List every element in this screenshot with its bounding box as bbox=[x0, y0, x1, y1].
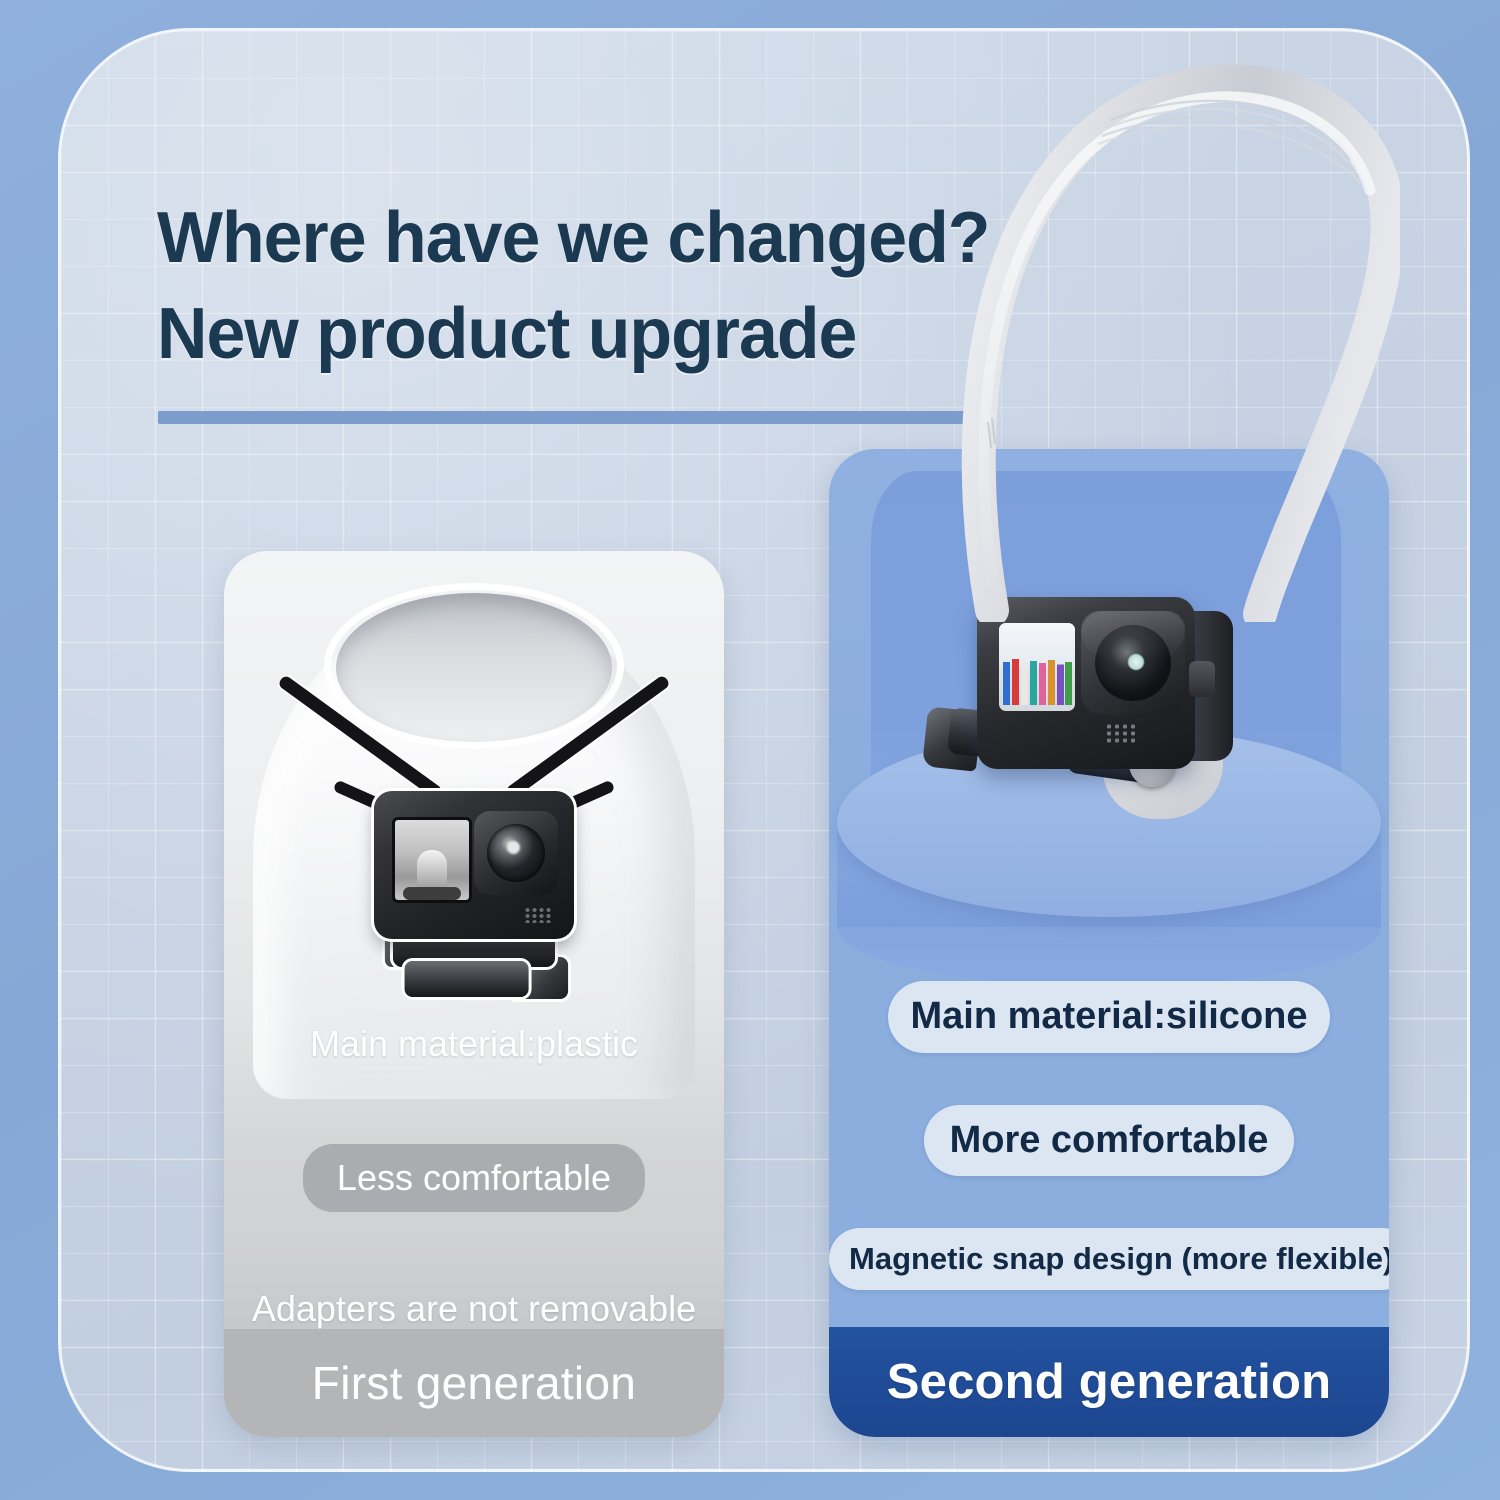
feature-material-pill: Main material:silicone bbox=[888, 981, 1329, 1053]
action-camera-front-view bbox=[374, 791, 574, 939]
torso-collar bbox=[324, 583, 624, 749]
first-generation-footer: First generation bbox=[224, 1329, 724, 1437]
feature-adapters: Adapters are not removable bbox=[224, 1286, 724, 1331]
feature-material: Main material:plastic bbox=[224, 1021, 724, 1066]
second-generation-feature-list: Main material:silicone More comfortable … bbox=[829, 981, 1389, 1290]
first-generation-feature-list: Main material:plastic Less comfortable A… bbox=[224, 1021, 724, 1331]
camera-mic-grille bbox=[524, 907, 552, 923]
headline-line-2: New product upgrade bbox=[157, 287, 1011, 383]
infographic-canvas: Main material:plastic Less comfortable A… bbox=[0, 0, 1500, 1500]
feature-comfort-pill: More comfortable bbox=[924, 1105, 1295, 1177]
first-generation-label: First generation bbox=[312, 1356, 636, 1410]
feature-magnetic-snap-pill: Magnetic snap design (more flexible) bbox=[829, 1228, 1389, 1290]
headline-line-1: Where have we changed? bbox=[157, 191, 1011, 287]
camera-side-button bbox=[1189, 661, 1215, 697]
second-generation-card: Main material:silicone More comfortable … bbox=[829, 449, 1389, 1437]
headline-block: Where have we changed? New product upgra… bbox=[157, 191, 1037, 383]
second-generation-label: Second generation bbox=[887, 1354, 1331, 1410]
camera-front-screen bbox=[392, 817, 472, 903]
screen-figure-base bbox=[403, 887, 461, 900]
content-panel: Main material:plastic Less comfortable A… bbox=[58, 28, 1470, 1472]
action-camera-angled-view bbox=[977, 589, 1239, 779]
screen-people bbox=[1001, 657, 1073, 705]
feature-comfort-pill: Less comfortable bbox=[303, 1144, 645, 1212]
second-generation-footer: Second generation bbox=[829, 1327, 1389, 1437]
camera-lens-housing bbox=[474, 811, 558, 895]
mount-adapter-lower bbox=[405, 961, 529, 997]
first-generation-card: Main material:plastic Less comfortable A… bbox=[224, 551, 724, 1437]
camera-lens bbox=[487, 824, 545, 882]
headline-underline bbox=[158, 411, 966, 424]
mannequin-torso-image bbox=[239, 569, 709, 1089]
lens-glint bbox=[507, 841, 520, 854]
lens-sheen bbox=[1081, 611, 1185, 661]
camera-mic-grille-angled bbox=[1105, 723, 1139, 743]
camera-front-screen-color bbox=[999, 623, 1075, 711]
